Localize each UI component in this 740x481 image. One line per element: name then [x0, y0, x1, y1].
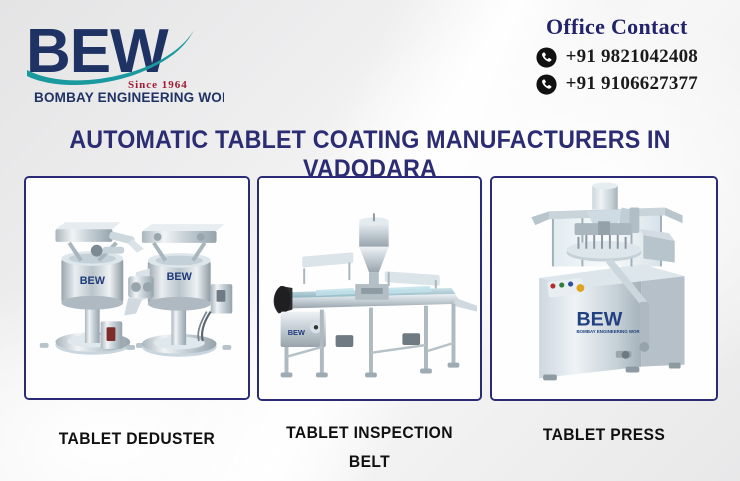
svg-text:BEW: BEW — [167, 271, 193, 283]
office-contact-block: Office Contact +91 9821042408 +91 910662… — [536, 14, 698, 95]
product-card-tablet-press[interactable]: BEW BOMBAY ENGINEERING WORKS — [490, 176, 718, 401]
svg-text:BEW: BEW — [288, 328, 305, 337]
product-card-tablet-deduster[interactable]: BEW — [24, 176, 250, 400]
bew-logo[interactable]: BEW Since 1964 BOMBAY ENGINEERING WORKS — [24, 14, 224, 104]
tablet-inspection-belt-photo: BEW — [259, 178, 480, 399]
product-card-tablet-inspection-belt[interactable]: BEW — [257, 176, 482, 401]
caption-tablet-deduster: TABLET DEDUSTER — [33, 424, 241, 453]
caption-tablet-inspection-belt: TABLET INSPECTION BELT — [266, 418, 473, 476]
tablet-deduster-photo: BEW — [26, 178, 248, 398]
logo-letters: BEW — [26, 17, 169, 86]
caption-tablet-press: TABLET PRESS — [499, 420, 709, 449]
office-contact-title: Office Contact — [536, 14, 698, 40]
phone-number-1: +91 9821042408 — [566, 46, 698, 68]
svg-text:BEW: BEW — [80, 275, 106, 287]
phone-row-2[interactable]: +91 9106627377 — [536, 73, 698, 95]
phone-icon — [536, 47, 557, 68]
svg-text:BEW: BEW — [576, 308, 622, 330]
phone-row-1[interactable]: +91 9821042408 — [536, 46, 698, 68]
phone-number-2: +91 9106627377 — [566, 73, 698, 95]
phone-icon — [536, 74, 557, 95]
svg-text:BOMBAY ENGINEERING WORKS: BOMBAY ENGINEERING WORKS — [576, 329, 645, 334]
bew-logo-mark: BEW Since 1964 BOMBAY ENGINEERING WORKS — [24, 14, 224, 104]
logo-subtitle: BOMBAY ENGINEERING WORKS — [34, 90, 224, 104]
promo-banner: BEW Since 1964 BOMBAY ENGINEERING WORKS … — [0, 0, 740, 481]
tablet-press-photo: BEW BOMBAY ENGINEERING WORKS — [492, 178, 716, 399]
